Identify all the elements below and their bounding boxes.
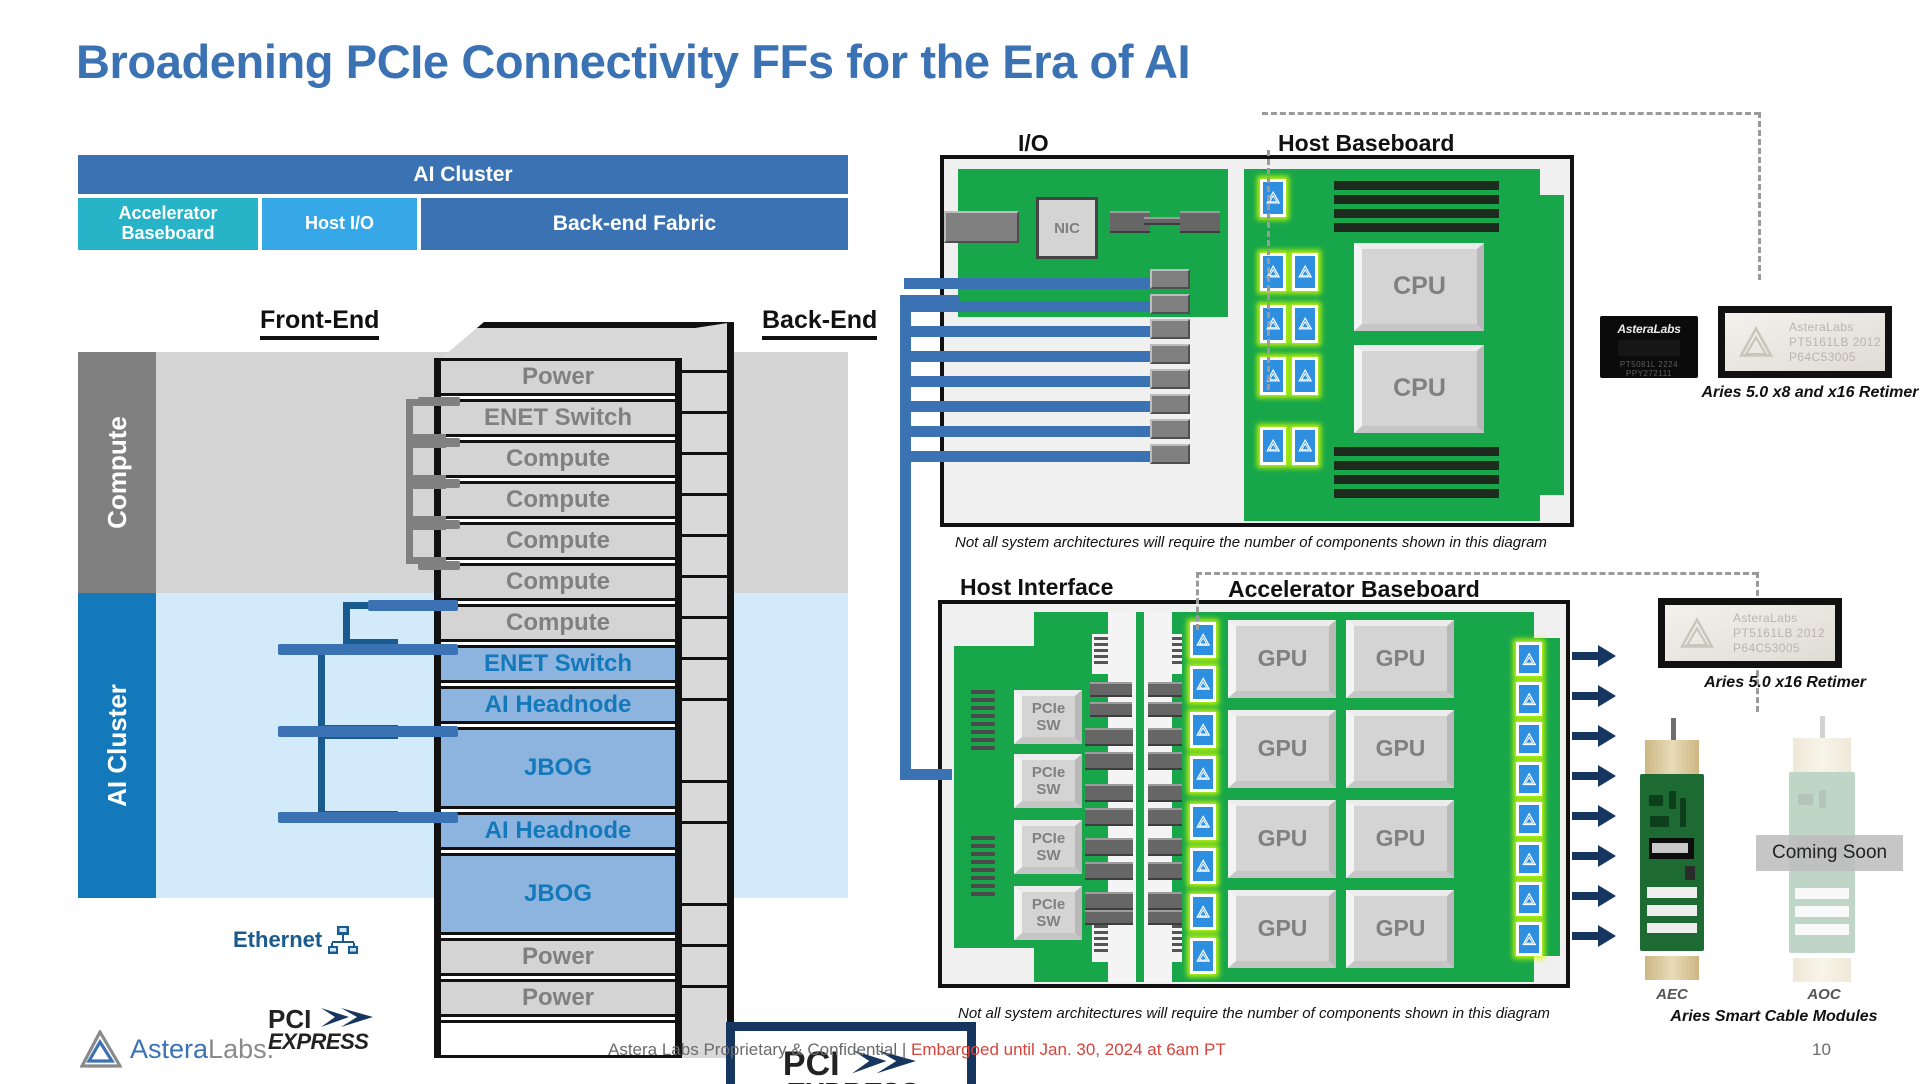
egress-arrow (1572, 845, 1616, 872)
mid-connector (1085, 910, 1133, 925)
cpu-label: CPU (1393, 374, 1446, 403)
astera-logo-icon (80, 1030, 122, 1068)
accelerator-baseboard-title: Accelerator Baseboard (1228, 576, 1480, 603)
cable-stub-ai (278, 644, 458, 655)
legend-accelerator-baseboard: Accelerator Baseboard (78, 198, 258, 250)
gpu-package: GPU (1228, 710, 1336, 788)
gpu-label: GPU (1376, 735, 1426, 762)
io-footnote: Not all system architectures will requir… (955, 534, 1547, 551)
gpu-package: GPU (1228, 620, 1336, 698)
io-cable (904, 426, 1154, 437)
board-notch (1540, 495, 1566, 521)
callout-dashed-top (1196, 572, 1758, 575)
retimer-chip-egress (1516, 762, 1542, 796)
coming-soon-badge: Coming Soon (1756, 835, 1903, 871)
chassis-side-face (682, 322, 734, 1058)
io-cable-connector (1150, 269, 1190, 289)
io-cable (904, 326, 1154, 337)
accel-footnote: Not all system architectures will requir… (958, 1005, 1550, 1022)
aoc-label: AOC (1786, 986, 1862, 1003)
pcie-switch-label: PCIe (1032, 896, 1065, 913)
io-cable (904, 278, 1154, 289)
dimm-slot (1334, 181, 1499, 190)
gpu-package: GPU (1346, 620, 1454, 698)
cable-stub (418, 438, 460, 447)
gpu-label: GPU (1376, 825, 1426, 852)
gpu-package: GPU (1346, 800, 1454, 878)
retimer-chip (1292, 357, 1318, 395)
retimer-chip (1190, 756, 1216, 792)
legend-accelerator-baseboard-label: Accelerator Baseboard (78, 204, 258, 244)
cable-stub (418, 520, 460, 529)
chip-brand-label: AsteraLabs (1617, 322, 1680, 336)
edge-fin-stack (968, 686, 998, 784)
cable-stub (418, 479, 460, 488)
pcie-switch-label: SW (1036, 781, 1060, 798)
rack-slot[interactable]: Power (441, 358, 675, 396)
astera-logo-text: AsteraLabs. (130, 1034, 274, 1065)
rack-slot[interactable]: ENET Switch (441, 399, 675, 437)
io-cable-connector (1150, 319, 1190, 339)
retimer-chip (1190, 894, 1216, 930)
astera-triangle-icon (1738, 324, 1774, 360)
aec-label: AEC (1634, 986, 1710, 1003)
connector-pins (1092, 634, 1110, 674)
rack-diagram: Compute AI Cluster Front-End Back-End Po… (78, 282, 848, 982)
io-cable-connector (1150, 394, 1190, 414)
gpu-package: GPU (1228, 890, 1336, 968)
front-end-label: Front-End (260, 306, 379, 340)
gpu-label: GPU (1258, 735, 1308, 762)
legend-back-end-fabric-label: Back-end Fabric (553, 212, 716, 235)
retimer-chip (1260, 179, 1286, 217)
cable-stub-ai (278, 812, 458, 823)
zone-label-ai-cluster-text: AI Cluster (102, 684, 133, 807)
pcie-switch-label: SW (1036, 847, 1060, 864)
retimer-x16-photo: AsteraLabs PT5161LB 2012 P64C53005 (1718, 306, 1892, 378)
gpu-label: GPU (1258, 825, 1308, 852)
cables-caption: Aries Smart Cable Modules (1654, 1008, 1894, 1026)
pcie-switch-label: PCIe (1032, 830, 1065, 847)
io-diagram-title: I/O (1018, 130, 1049, 157)
egress-arrow (1572, 805, 1616, 832)
egress-arrow (1572, 645, 1616, 672)
cable-stub-ai (278, 726, 458, 737)
host-baseboard-title: Host Baseboard (1278, 130, 1454, 157)
footer-embargo: Embargoed until Jan. 30, 2024 at 6am PT (911, 1040, 1226, 1059)
back-end-label: Back-End (762, 306, 877, 340)
egress-arrow (1572, 925, 1616, 952)
zone-label-compute-text: Compute (102, 416, 133, 529)
retimer-chip (1292, 305, 1318, 343)
retimer-chip (1260, 427, 1286, 465)
chip-markings: AsteraLabs PT5161LB 2012 P64C53005 (1733, 611, 1825, 656)
legend-host-io-label: Host I/O (305, 214, 374, 234)
cable-stub (418, 561, 460, 570)
retimer-chip (1260, 305, 1286, 343)
section-divider-dashed (1196, 572, 1199, 630)
cable-stub (418, 397, 460, 406)
rack-slot[interactable]: Compute (441, 440, 675, 478)
interconnect-cable (900, 769, 952, 780)
legend-host-io: Host I/O (262, 198, 417, 250)
mid-connector (1090, 702, 1132, 717)
io-cable-connector (1150, 344, 1190, 364)
retimer-chip-egress (1516, 802, 1542, 836)
page-title: Broadening PCIe Connectivity FFs for the… (76, 34, 1190, 89)
retimer-chip-egress (1516, 682, 1542, 716)
board-notch (1534, 956, 1560, 982)
legend-bar: AI Cluster Accelerator Baseboard Host I/… (78, 155, 848, 250)
egress-arrow (1572, 765, 1616, 792)
gpu-label: GPU (1376, 645, 1426, 672)
board-notch (1540, 169, 1566, 195)
dimm-slot (1334, 489, 1499, 498)
gpu-package: GPU (1346, 710, 1454, 788)
cable-bracket-ai (318, 732, 398, 818)
rack-slot[interactable]: Compute (441, 522, 675, 560)
retimer-chip (1292, 427, 1318, 465)
cpu-package: CPU (1354, 243, 1484, 331)
cpu-package: CPU (1354, 345, 1484, 433)
io-cable-connector (1150, 294, 1190, 314)
board-notch (954, 948, 1034, 982)
gpu-package: GPU (1346, 890, 1454, 968)
io-edge-connector (944, 211, 1019, 243)
pcie-switch-chip: PCIe SW (1014, 820, 1082, 874)
cable-bracket-ai (318, 646, 398, 732)
pcie-switch-chip: PCIe SW (1014, 886, 1082, 940)
dimm-slot (1334, 461, 1499, 470)
gpu-label: GPU (1258, 915, 1308, 942)
accelerator-board-outline: PCIe SW PCIe SW PCIe SW PCIe SW (938, 600, 1570, 988)
footer-confidential: Astera Labs Proprietary & Confidential | (608, 1040, 911, 1059)
nic-chip-label: NIC (1054, 220, 1080, 237)
gpu-package: GPU (1228, 800, 1336, 878)
cpu-label: CPU (1393, 272, 1446, 301)
rack-slot[interactable]: AI Headnode (441, 686, 675, 724)
rack-slot[interactable]: Power (441, 979, 675, 1017)
rack-slot-list: Power ENET Switch Compute Compute Comput… (441, 358, 675, 1061)
pcie-logo-small: PCI EXPRESS (268, 1004, 375, 1055)
cable-bracket (406, 523, 446, 564)
retimer-x16-caption: Aries 5.0 x16 Retimer (1670, 674, 1900, 692)
zone-label-compute: Compute (78, 352, 156, 593)
host-interface-title: Host Interface (960, 574, 1113, 601)
mid-connector (1085, 784, 1133, 802)
aec-module-photo (1636, 740, 1708, 980)
retimer-chip (1190, 848, 1216, 884)
retimer-chip-egress (1516, 882, 1542, 916)
egress-arrow (1572, 725, 1616, 752)
dimm-slot (1334, 447, 1499, 456)
pcie-switch-chip: PCIe SW (1014, 754, 1082, 808)
cable-bracket (406, 482, 446, 523)
chip-code-label: PPY272111 (1626, 369, 1672, 378)
retimer-chip (1292, 253, 1318, 291)
pcie-switch-label: PCIe (1032, 764, 1065, 781)
retimer-chip-egress (1516, 642, 1542, 676)
astera-labs-logo: AsteraLabs. (80, 1030, 274, 1068)
cable-stub-ai (368, 600, 458, 611)
connector-pins (1092, 922, 1110, 962)
io-cable-connector (1180, 211, 1220, 233)
page-number: 10 (1812, 1040, 1831, 1060)
retimer-chip (1190, 804, 1216, 840)
io-cable (904, 401, 1154, 412)
board-notch (954, 612, 1034, 646)
dimm-slot (1334, 475, 1499, 484)
legend-back-end-fabric: Back-end Fabric (421, 198, 848, 250)
ethernet-label: Ethernet (233, 927, 322, 953)
io-cable-connector (1150, 419, 1190, 439)
nic-chip: NIC (1036, 197, 1098, 259)
io-cable (904, 451, 1154, 462)
io-host-board-outline: NIC CPU CPU (940, 155, 1574, 527)
rack-slot[interactable]: JBOG (441, 853, 675, 935)
retimer-x8-photo: AsteraLabs PT5081L 2224 PPY272111 (1600, 316, 1698, 378)
network-icon (328, 926, 358, 954)
dimm-slot (1334, 195, 1499, 204)
ethernet-group: Ethernet (233, 926, 358, 954)
retimer-pair-caption: Aries 5.0 x8 and x16 Retimer (1660, 384, 1920, 402)
pcie-switch-chip: PCIe SW (1014, 690, 1082, 744)
io-cable-connector (1150, 369, 1190, 389)
io-cable (904, 351, 1154, 362)
dimm-slot (1334, 209, 1499, 218)
callout-dashed-io (1262, 112, 1760, 115)
footer-confidential-text: Astera Labs Proprietary & Confidential |… (608, 1040, 1226, 1060)
retimer-x16-photo-single: AsteraLabs PT5161LB 2012 P64C53005 (1658, 598, 1842, 668)
chip-markings: AsteraLabs PT5161LB 2012 P64C53005 (1789, 320, 1881, 365)
retimer-chip (1190, 622, 1216, 658)
rack-slot[interactable]: Compute (441, 604, 675, 642)
rack-slot[interactable]: Compute (441, 481, 675, 519)
mid-connector (1085, 862, 1133, 880)
mid-connector (1085, 838, 1133, 856)
mid-connector (1085, 808, 1133, 826)
board-notch (1534, 612, 1560, 638)
rack-slot[interactable]: JBOG (441, 727, 675, 809)
retimer-chip (1260, 253, 1286, 291)
egress-arrow (1572, 685, 1616, 712)
retimer-chip-egress (1516, 722, 1542, 756)
mid-connector (1085, 892, 1133, 910)
mid-connector (1090, 682, 1132, 697)
cable-bracket (406, 441, 446, 482)
rack-slot[interactable]: AI Headnode (441, 812, 675, 850)
retimer-chip (1190, 938, 1216, 974)
interconnect-cable-vertical (900, 295, 911, 780)
rack-slot[interactable]: Power (441, 938, 675, 976)
io-cable-connector (1150, 444, 1190, 464)
egress-arrow (1572, 885, 1616, 912)
astera-triangle-icon (1679, 615, 1715, 651)
gpu-label: GPU (1376, 915, 1426, 942)
pcie-chevron-icon (319, 1008, 375, 1030)
zone-label-ai-cluster: AI Cluster (78, 593, 156, 898)
rack-slot[interactable]: ENET Switch (441, 645, 675, 683)
legend-ai-cluster: AI Cluster (78, 155, 848, 194)
rack-slot[interactable]: Compute (441, 563, 675, 601)
retimer-chip (1260, 357, 1286, 395)
chip-code-label: PT5081L 2224 (1620, 360, 1678, 369)
dimm-slot (1334, 223, 1499, 232)
mid-connector (1085, 752, 1133, 770)
io-cable (904, 376, 1154, 387)
section-divider-dashed (1267, 150, 1270, 390)
retimer-chip-egress (1516, 842, 1542, 876)
retimer-chip-egress (1516, 922, 1542, 956)
mid-connector (1085, 728, 1133, 746)
pcie-switch-label: SW (1036, 717, 1060, 734)
gpu-label: GPU (1258, 645, 1308, 672)
pcie-logo-line2: EXPRESS (268, 1029, 375, 1055)
pcie-switch-label: PCIe (1032, 700, 1065, 717)
callout-dashed-io-v (1758, 112, 1761, 280)
retimer-chip (1190, 666, 1216, 702)
retimer-chip (1190, 712, 1216, 748)
pcie-switch-label: SW (1036, 913, 1060, 930)
edge-fin-stack (968, 832, 998, 930)
